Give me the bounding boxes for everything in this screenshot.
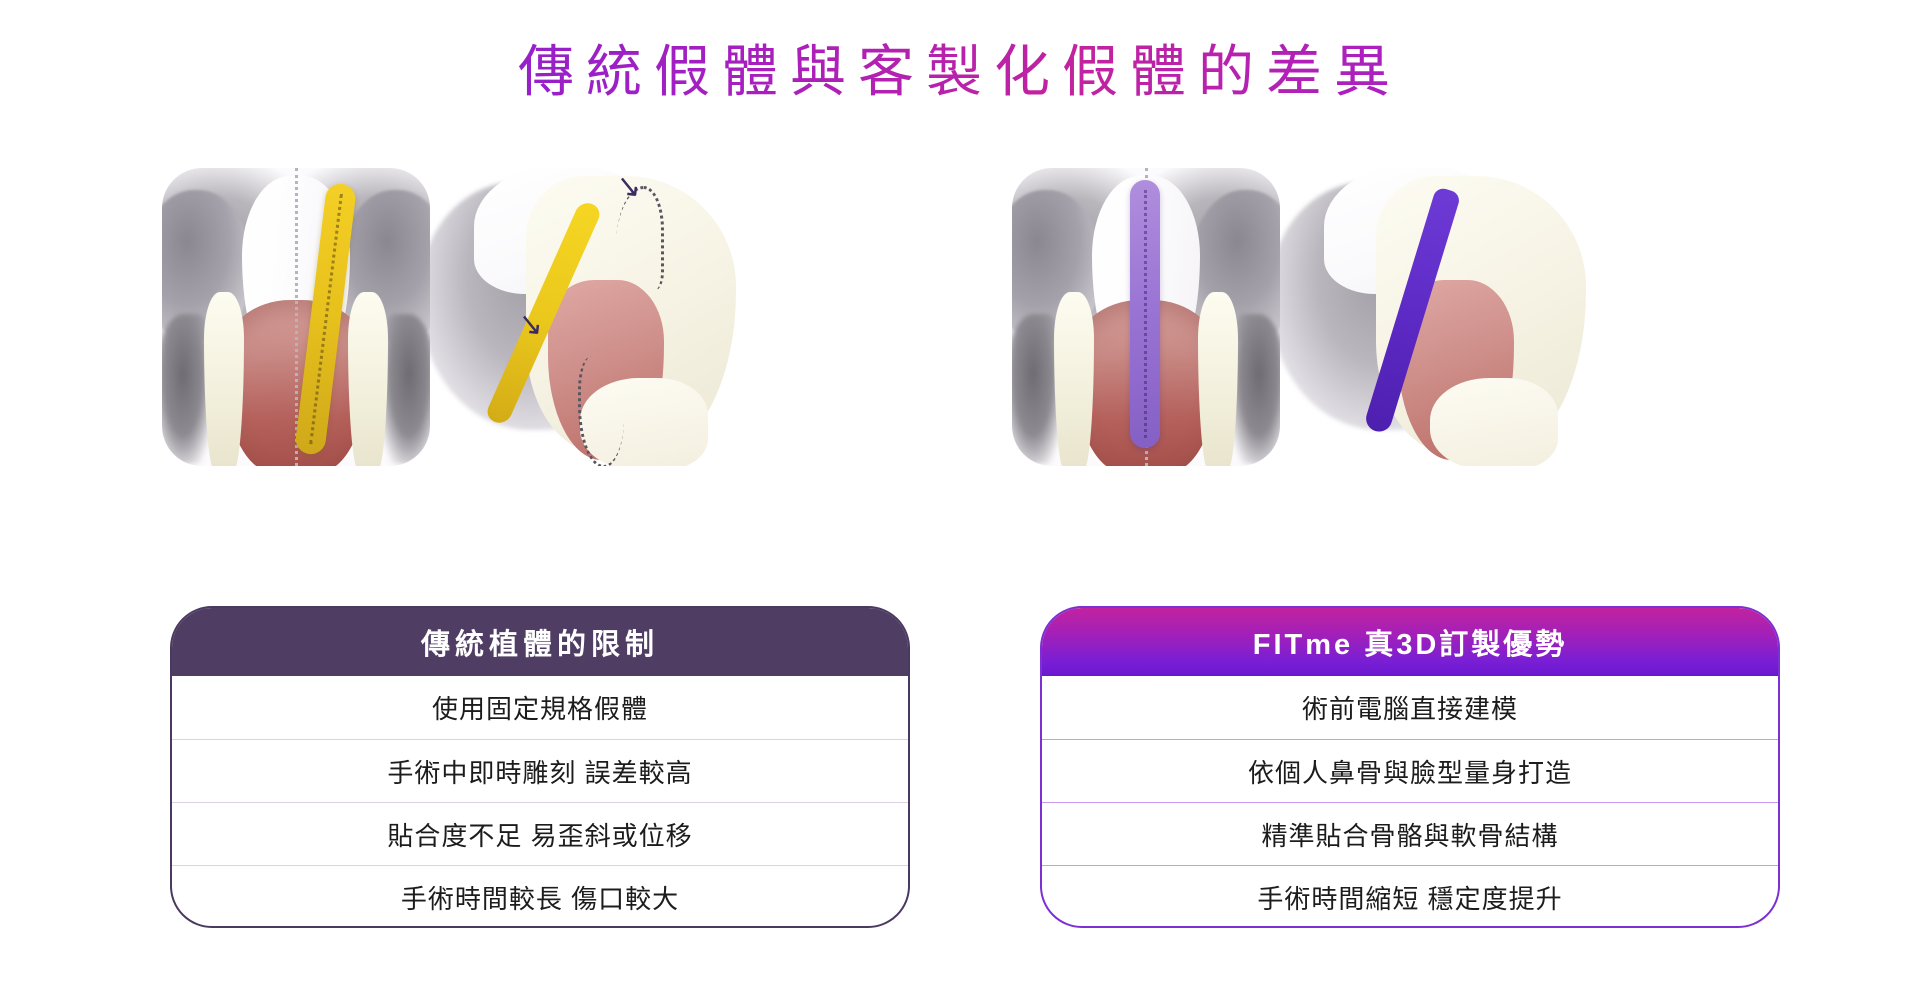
callout-arrow-top-icon: ↘	[615, 171, 643, 203]
card-traditional-header: 傳統植體的限制	[172, 608, 908, 676]
nasal-cartilage-right	[348, 292, 388, 466]
list-item: 精準貼合骨骼與軟骨結構	[1042, 802, 1778, 865]
page-title: 傳統假體與客製化假體的差異	[0, 38, 1920, 105]
implant-axis-dotted	[1144, 190, 1147, 438]
list-item: 術前電腦直接建模	[1042, 676, 1778, 739]
nasal-tip-cartilage	[1430, 378, 1558, 466]
illustration-strip: ↘ ↘	[0, 168, 1920, 468]
callout-arrow-bottom-icon: ↘	[517, 309, 545, 341]
card-custom-header: FITme 真3D訂製優勢	[1042, 608, 1778, 676]
list-item: 手術時間縮短 穩定度提升	[1042, 865, 1778, 928]
illustration-traditional-side-view: ↘ ↘	[430, 168, 750, 466]
nasal-cartilage-right	[1198, 292, 1238, 466]
list-item: 依個人鼻骨與臉型量身打造	[1042, 739, 1778, 802]
nasal-cartilage-left	[204, 292, 244, 466]
list-item: 貼合度不足 易歪斜或位移	[172, 802, 908, 865]
illustration-custom-side-view	[1280, 168, 1600, 466]
illustration-custom-front-view	[1012, 168, 1280, 466]
nasal-cartilage-left	[1054, 292, 1094, 466]
comparison-area: 傳統植體的限制 使用固定規格假體 手術中即時雕刻 誤差較高 貼合度不足 易歪斜或…	[0, 606, 1920, 936]
list-item: 使用固定規格假體	[172, 676, 908, 739]
illustration-traditional-front-view	[162, 168, 430, 466]
card-traditional-rows: 使用固定規格假體 手術中即時雕刻 誤差較高 貼合度不足 易歪斜或位移 手術時間較…	[172, 676, 908, 928]
card-traditional-limitations: 傳統植體的限制 使用固定規格假體 手術中即時雕刻 誤差較高 貼合度不足 易歪斜或…	[170, 606, 910, 928]
card-custom-rows: 術前電腦直接建模 依個人鼻骨與臉型量身打造 精準貼合骨骼與軟骨結構 手術時間縮短…	[1042, 676, 1778, 928]
card-custom-advantages: FITme 真3D訂製優勢 術前電腦直接建模 依個人鼻骨與臉型量身打造 精準貼合…	[1040, 606, 1780, 928]
list-item: 手術時間較長 傷口較大	[172, 865, 908, 928]
purple-implant	[1130, 180, 1160, 448]
list-item: 手術中即時雕刻 誤差較高	[172, 739, 908, 802]
fit-gap-outline-bottom	[578, 356, 624, 466]
